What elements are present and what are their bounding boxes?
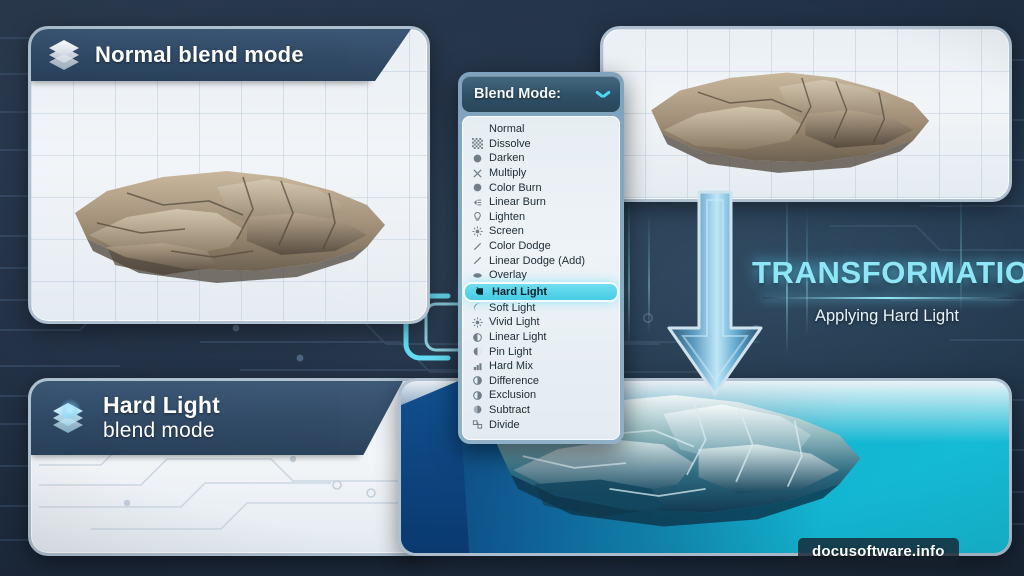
blend-mode-option-label: Linear Dodge (Add) bbox=[489, 255, 585, 267]
blend-mode-option-label: Normal bbox=[489, 123, 524, 135]
slash-icon bbox=[472, 241, 483, 252]
screenshot-root: Normal blend mode bbox=[0, 0, 1024, 576]
no-icon-spacer bbox=[472, 124, 483, 135]
blend-mode-option-label: Divide bbox=[489, 419, 520, 431]
half-moon-icon bbox=[472, 332, 483, 343]
blend-mode-option[interactable]: Multiply bbox=[462, 166, 620, 181]
sun-burst-icon bbox=[472, 226, 483, 237]
blend-mode-option-label: Darken bbox=[489, 152, 524, 164]
blend-mode-option[interactable]: Vivid Light bbox=[462, 315, 620, 330]
blend-mode-option[interactable]: Normal bbox=[462, 122, 620, 137]
blend-mode-option[interactable]: Dissolve bbox=[462, 137, 620, 152]
filled-circle-icon bbox=[472, 182, 483, 193]
hard-light-icon bbox=[475, 286, 486, 297]
bar-blocks-icon bbox=[472, 361, 483, 372]
ellipse-icon bbox=[472, 270, 483, 281]
blend-mode-option[interactable]: Hard Light bbox=[465, 284, 617, 300]
blend-mode-option-label: Linear Light bbox=[489, 331, 547, 343]
data-stream-line bbox=[648, 214, 650, 334]
blend-mode-option[interactable]: Divide bbox=[462, 417, 620, 432]
blend-mode-option-label: Screen bbox=[489, 225, 524, 237]
chevron-down-icon[interactable] bbox=[596, 90, 610, 99]
lines-left-icon bbox=[472, 197, 483, 208]
transformation-block: TRANSFORMATION Applying Hard Light bbox=[752, 255, 1022, 326]
blend-mode-option-label: Color Dodge bbox=[489, 240, 551, 252]
blend-mode-option-label: Lighten bbox=[489, 211, 525, 223]
panel-title-hard-light-line1: Hard Light bbox=[103, 393, 220, 419]
gradient-circle-icon bbox=[472, 404, 483, 415]
panel-title-normal: Normal blend mode bbox=[95, 42, 304, 68]
transformation-divider bbox=[762, 297, 1012, 299]
blend-mode-option-label: Color Burn bbox=[489, 182, 542, 194]
half-circle-icon bbox=[472, 390, 483, 401]
cross-icon bbox=[472, 168, 483, 179]
bulb-icon bbox=[472, 211, 483, 222]
blend-mode-option[interactable]: Color Dodge bbox=[462, 239, 620, 254]
blend-mode-option[interactable]: Lighten bbox=[462, 210, 620, 225]
blend-mode-option[interactable]: Linear Burn bbox=[462, 195, 620, 210]
half-circle-icon bbox=[472, 375, 483, 386]
blend-mode-dropdown[interactable]: Blend Mode: NormalDissolveDarkenMultiply… bbox=[458, 72, 624, 444]
blend-mode-option[interactable]: Darken bbox=[462, 151, 620, 166]
dither-square-icon bbox=[472, 138, 483, 149]
blend-mode-option-label: Hard Light bbox=[492, 286, 547, 298]
sun-burst-icon bbox=[472, 317, 483, 328]
data-stream-line bbox=[628, 196, 630, 346]
blend-mode-option[interactable]: Linear Dodge (Add) bbox=[462, 253, 620, 268]
blend-mode-option-label: Vivid Light bbox=[489, 316, 540, 328]
blend-mode-option-label: Multiply bbox=[489, 167, 526, 179]
blend-mode-option-label: Dissolve bbox=[489, 138, 531, 150]
blend-mode-option[interactable]: Subtract bbox=[462, 403, 620, 418]
blend-mode-option[interactable]: Pin Light bbox=[462, 344, 620, 359]
rock-normal-image-2 bbox=[627, 51, 957, 181]
crescent-icon bbox=[472, 302, 483, 313]
rock-normal-image bbox=[67, 147, 397, 292]
transformation-subtitle: Applying Hard Light bbox=[752, 307, 1022, 326]
two-squares-icon bbox=[472, 419, 483, 430]
blend-mode-option-label: Linear Burn bbox=[489, 196, 546, 208]
blend-mode-option[interactable]: Overlay bbox=[462, 268, 620, 283]
panel-header-tail bbox=[351, 29, 411, 81]
panel-header-hard-light: Hard Light blend mode bbox=[31, 381, 359, 455]
hard-light-blend-panel: Hard Light blend mode bbox=[28, 378, 430, 556]
panel-header-normal: Normal blend mode bbox=[31, 29, 369, 81]
blend-mode-dropdown-header[interactable]: Blend Mode: bbox=[462, 76, 620, 112]
panel-grid bbox=[603, 29, 1009, 199]
layers-glow-icon bbox=[53, 403, 87, 433]
blend-mode-option[interactable]: Soft Light bbox=[462, 301, 620, 316]
filled-circle-icon bbox=[472, 153, 483, 164]
blend-mode-option[interactable]: Linear Light bbox=[462, 330, 620, 345]
blend-mode-option-label: Soft Light bbox=[489, 302, 535, 314]
blend-mode-option-list[interactable]: NormalDissolveDarkenMultiplyColor BurnLi… bbox=[462, 116, 620, 440]
blend-mode-option[interactable]: Hard Mix bbox=[462, 359, 620, 374]
normal-blend-panel: Normal blend mode bbox=[28, 26, 430, 324]
transformation-title: TRANSFORMATION bbox=[752, 255, 1022, 291]
blend-mode-option-label: Difference bbox=[489, 375, 539, 387]
blend-mode-option[interactable]: Exclusion bbox=[462, 388, 620, 403]
blend-mode-option-label: Overlay bbox=[489, 269, 527, 281]
blend-mode-option-label: Hard Mix bbox=[489, 360, 533, 372]
quarter-moon-icon bbox=[472, 346, 483, 357]
blend-mode-option[interactable]: Color Burn bbox=[462, 180, 620, 195]
watermark: docusoftware.info bbox=[798, 538, 959, 565]
panel-title-hard-light-line2: blend mode bbox=[103, 419, 220, 443]
blend-mode-label: Blend Mode: bbox=[474, 86, 561, 102]
slash-icon bbox=[472, 255, 483, 266]
blend-mode-option[interactable]: Difference bbox=[462, 374, 620, 389]
blend-mode-option-label: Pin Light bbox=[489, 346, 532, 358]
normal-result-panel bbox=[600, 26, 1012, 202]
blend-mode-option[interactable]: Screen bbox=[462, 224, 620, 239]
blend-mode-option-label: Subtract bbox=[489, 404, 530, 416]
layers-icon bbox=[49, 40, 83, 70]
blend-mode-option-label: Exclusion bbox=[489, 389, 536, 401]
